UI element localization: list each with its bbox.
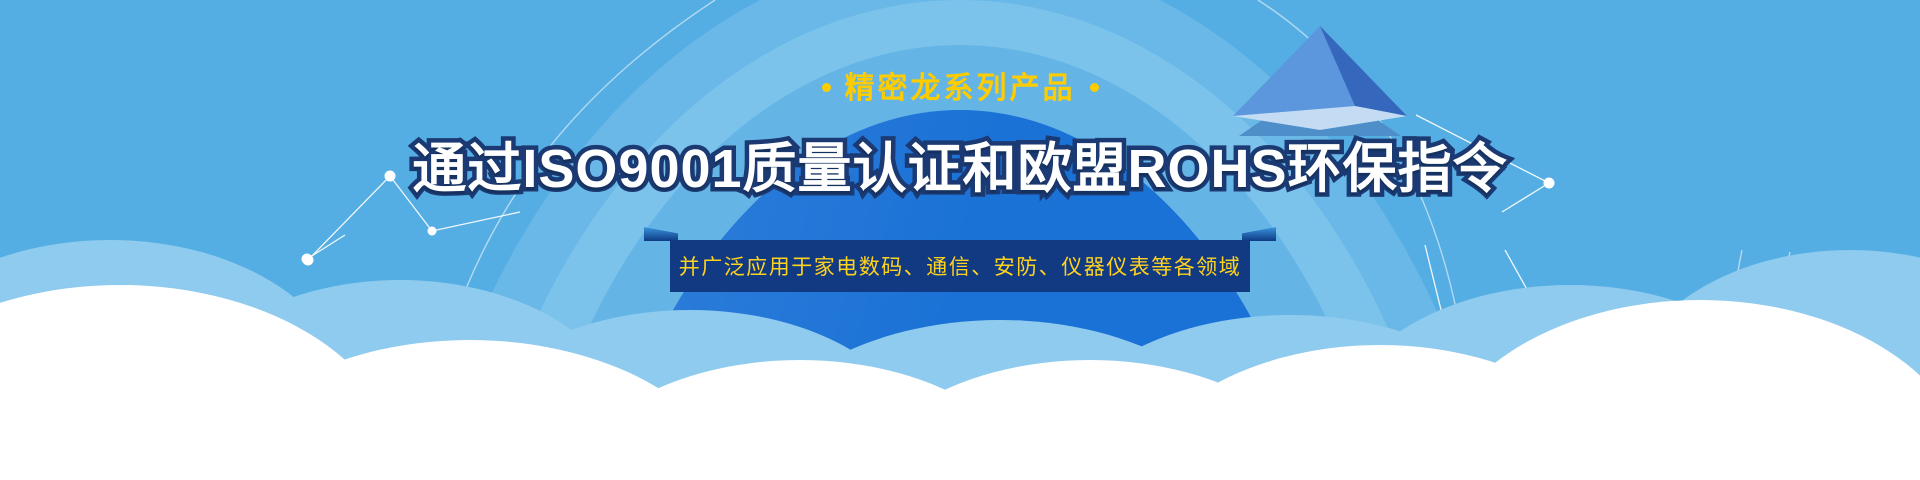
ribbon-text: 并广泛应用于家电数码、通信、安防、仪器仪表等各领域 bbox=[679, 251, 1242, 281]
ribbon-fold-right bbox=[1242, 227, 1276, 241]
headline: 通过ISO9001质量认证和欧盟ROHS环保指令 bbox=[412, 138, 1507, 200]
promo-banner: 精密龙系列产品 通过ISO9001质量认证和欧盟ROHS环保指令 并广泛应用于家… bbox=[0, 0, 1920, 480]
ribbon-body: 并广泛应用于家电数码、通信、安防、仪器仪表等各领域 bbox=[670, 240, 1250, 292]
ribbon-banner: 并广泛应用于家电数码、通信、安防、仪器仪表等各领域 bbox=[670, 240, 1250, 292]
banner-content: 精密龙系列产品 通过ISO9001质量认证和欧盟ROHS环保指令 并广泛应用于家… bbox=[0, 0, 1920, 480]
bullet-dot-right-icon bbox=[1090, 83, 1099, 92]
eyebrow-tagline: 精密龙系列产品 bbox=[808, 74, 1113, 104]
eyebrow-text: 精密龙系列产品 bbox=[845, 72, 1076, 105]
ribbon-fold-left bbox=[644, 227, 678, 241]
bullet-dot-left-icon bbox=[822, 83, 831, 92]
